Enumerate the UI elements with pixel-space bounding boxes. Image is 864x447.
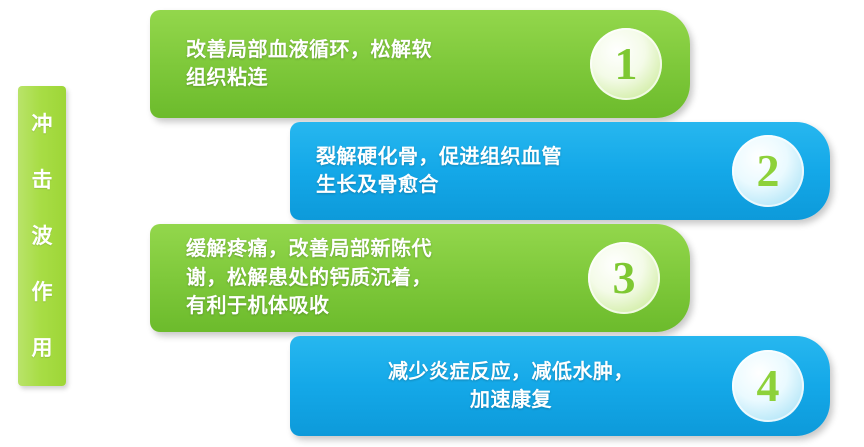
- diagram-canvas: 冲 击 波 作 用 改善局部血液循环，松解软 组织粘连 1 裂解硬化骨，促进组织…: [0, 0, 864, 447]
- label-char-1: 冲: [32, 114, 53, 135]
- label-char-4: 作: [32, 282, 53, 303]
- effect-bar-3: 缓解疼痛，改善局部新陈代 谢，松解患处的钙质沉着， 有利于机体吸收 3: [150, 224, 690, 332]
- effect-bar-3-number: 3: [613, 255, 636, 301]
- label-char-3: 波: [32, 226, 53, 247]
- shockwave-effect-label: 冲 击 波 作 用: [18, 86, 66, 386]
- effect-bar-4-badge: 4: [732, 350, 804, 422]
- effect-bar-3-text: 缓解疼痛，改善局部新陈代 谢，松解患处的钙质沉着， 有利于机体吸收: [186, 235, 556, 320]
- effect-bar-1-text: 改善局部血液循环，松解软 组织粘连: [186, 36, 566, 93]
- effect-bar-1-number: 1: [615, 41, 638, 87]
- effect-bar-4-text: 减少炎症反应，减低水肿， 加速康复: [316, 358, 706, 415]
- effect-bar-2-number: 2: [757, 148, 780, 194]
- effect-bar-2-badge: 2: [732, 135, 804, 207]
- label-char-5: 用: [32, 338, 53, 359]
- effect-bar-1: 改善局部血液循环，松解软 组织粘连 1: [150, 10, 690, 118]
- effect-bar-1-badge: 1: [590, 28, 662, 100]
- effect-bar-4-number: 4: [757, 363, 780, 409]
- effect-bar-2-text: 裂解硬化骨，促进组织血管 生长及骨愈合: [316, 143, 696, 200]
- effect-bar-4: 减少炎症反应，减低水肿， 加速康复 4: [290, 336, 830, 436]
- effect-bar-2: 裂解硬化骨，促进组织血管 生长及骨愈合 2: [290, 122, 830, 220]
- effect-bar-3-badge: 3: [588, 242, 660, 314]
- label-char-2: 击: [32, 170, 53, 191]
